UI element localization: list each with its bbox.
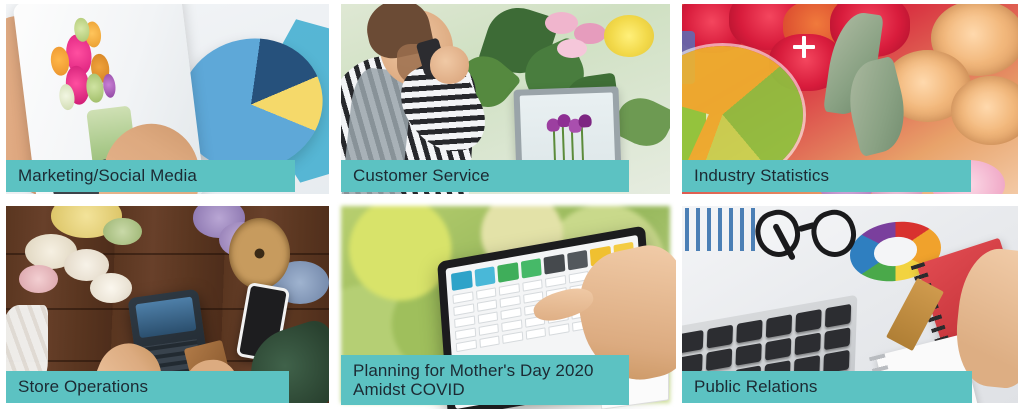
caption-line: Industry Statistics (694, 166, 829, 185)
tile-caption-public-relations: Public Relations (682, 371, 972, 403)
tile-caption-marketing-social-media: Marketing/Social Media (6, 160, 295, 192)
tile-caption-store-operations: Store Operations (6, 371, 289, 403)
caption-line: Marketing/Social Media (18, 166, 197, 185)
tile-planning-mothers-day[interactable]: Planning for Mother's Day 2020 Amidst CO… (335, 198, 676, 409)
tile-public-relations[interactable]: Public Relations (676, 198, 1024, 409)
tile-caption-industry-statistics: Industry Statistics (682, 160, 971, 192)
eyeglasses (756, 210, 857, 265)
terminal-screen (136, 296, 197, 338)
tile-customer-service[interactable]: Customer Service (335, 0, 676, 198)
tile-caption-planning-mothers-day: Planning for Mother's Day 2020 Amidst CO… (341, 355, 629, 405)
tile-caption-customer-service: Customer Service (341, 160, 629, 192)
caption-line: Customer Service (353, 166, 490, 185)
tile-industry-statistics[interactable]: Industry Statistics (676, 0, 1024, 198)
category-tile-grid: BUY Marketing/Social Media (0, 0, 1024, 409)
tile-store-operations[interactable]: Store Operations (0, 198, 335, 409)
tile-marketing-social-media[interactable]: BUY Marketing/Social Media (0, 0, 335, 198)
person-hand (430, 46, 469, 84)
bar-chart-printout (685, 208, 759, 251)
yellow-flower (604, 15, 653, 57)
laptop-screen (520, 92, 615, 169)
caption-line: Public Relations (694, 377, 818, 396)
glasses-lens-right (807, 206, 863, 263)
twine-spool (229, 218, 290, 289)
caption-line: Amidst COVID (353, 380, 465, 399)
plus-icon (793, 36, 815, 58)
caption-line: Store Operations (18, 377, 148, 396)
caption-line: Planning for Mother's Day 2020 (353, 361, 594, 380)
